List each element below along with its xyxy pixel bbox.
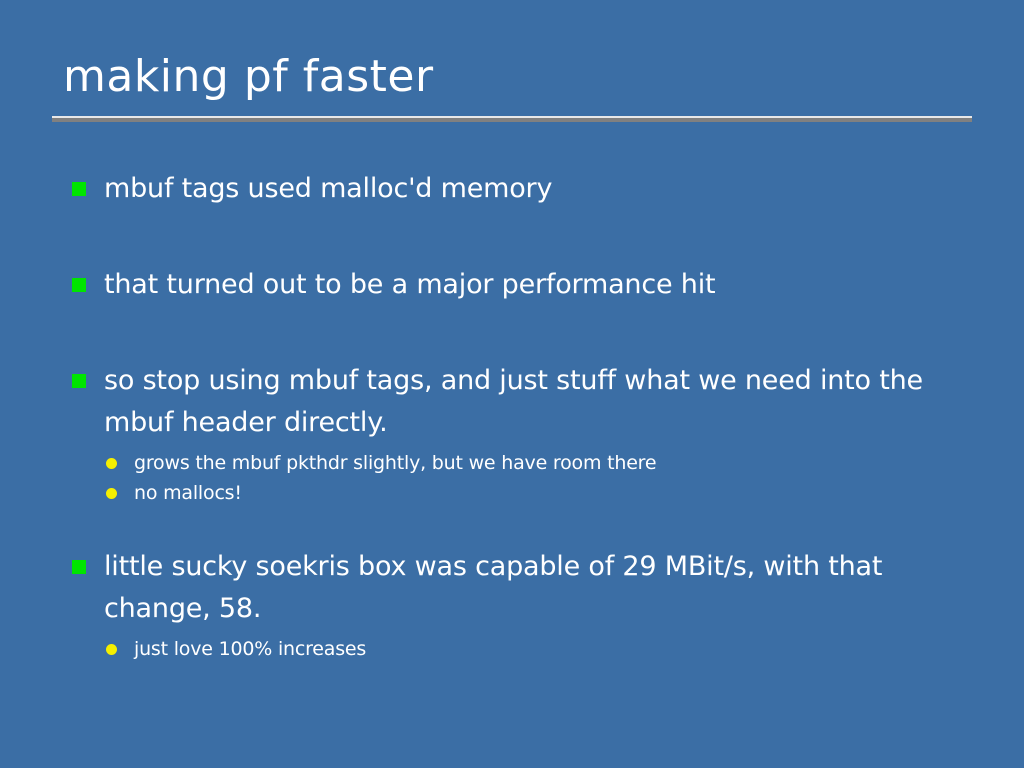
spacer — [68, 310, 968, 360]
square-bullet-icon — [72, 278, 86, 292]
bullet-group-4: little sucky soekris box was capable of … — [68, 546, 968, 664]
list-item-label: mbuf tags used malloc'd memory — [104, 168, 968, 210]
list-item-label: little sucky soekris box was capable of … — [104, 546, 968, 630]
sub-list-item: grows the mbuf pkthdr slightly, but we h… — [68, 448, 968, 478]
page-title: making pf faster — [52, 48, 972, 106]
square-bullet-icon — [72, 182, 86, 196]
list-item: that turned out to be a major performanc… — [68, 264, 968, 306]
title-divider-shadow — [52, 118, 972, 122]
title-divider — [52, 116, 972, 122]
sub-list-item: just love 100% increases — [68, 634, 968, 664]
square-bullet-icon — [72, 374, 86, 388]
slide-title-block: making pf faster — [52, 48, 972, 106]
bullet-group-1: mbuf tags used malloc'd memory — [68, 168, 968, 210]
bullet-group-2: that turned out to be a major performanc… — [68, 264, 968, 306]
sub-list-item-label: just love 100% increases — [134, 634, 968, 664]
bullet-group-3: so stop using mbuf tags, and just stuff … — [68, 360, 968, 508]
spacer — [68, 508, 968, 546]
round-bullet-icon — [106, 644, 117, 655]
round-bullet-icon — [106, 458, 117, 469]
presentation-slide: making pf faster mbuf tags used malloc'd… — [0, 0, 1024, 768]
sub-list-item-label: grows the mbuf pkthdr slightly, but we h… — [134, 448, 968, 478]
list-item: mbuf tags used malloc'd memory — [68, 168, 968, 210]
slide-body: mbuf tags used malloc'd memory that turn… — [68, 168, 968, 664]
list-item-label: that turned out to be a major performanc… — [104, 264, 968, 306]
square-bullet-icon — [72, 560, 86, 574]
list-item-label: so stop using mbuf tags, and just stuff … — [104, 360, 968, 444]
round-bullet-icon — [106, 488, 117, 499]
sub-list-item-label: no mallocs! — [134, 478, 968, 508]
sub-list-item: no mallocs! — [68, 478, 968, 508]
spacer — [68, 214, 968, 264]
list-item: little sucky soekris box was capable of … — [68, 546, 968, 630]
list-item: so stop using mbuf tags, and just stuff … — [68, 360, 968, 444]
